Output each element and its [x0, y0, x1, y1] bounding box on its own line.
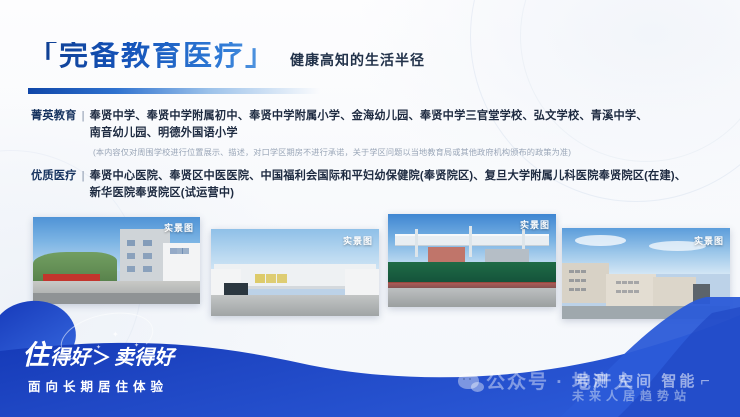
- slogan-arrow-icon: ＞: [92, 343, 111, 370]
- footer-sub-slogan: 面向长期居住体验: [28, 376, 168, 395]
- slogan-part-1: 住: [22, 342, 49, 369]
- photo-window: [170, 248, 177, 253]
- photo-item: 实景图: [388, 214, 556, 307]
- photo-truss: [395, 234, 550, 245]
- photo-tag: 实景图: [164, 221, 194, 234]
- photo-tag: 实景图: [694, 234, 724, 247]
- education-line: 菁英教育 | 奉贤中学、奉贤中学附属初中、奉贤中学附属小学、金海幼儿园、奉贤中学…: [31, 108, 716, 142]
- slide-root: 「完备教育医疗」 健康高知的生活半径 菁英教育 | 奉贤中学、奉贤中学附属初中、…: [0, 0, 740, 417]
- photo-tag: 实景图: [343, 234, 373, 247]
- photo-building: [163, 243, 200, 283]
- education-separator: |: [82, 108, 85, 125]
- title-divider: [28, 88, 320, 94]
- footer-band: ✦ ✦ ✦ 住 得好 ＞ 卖得好 面向长期居住体验 公众号 · 地产人 号测 空…: [0, 297, 740, 417]
- education-text: 奉贤中学、奉贤中学附属初中、奉贤中学附属小学、金海幼儿园、奉贤中学三官堂学校、弘…: [90, 108, 716, 142]
- photo-item: 实景图: [33, 217, 200, 304]
- photo-window: [127, 240, 135, 246]
- medical-text: 奉贤中心医院、奉贤区中医医院、中国福利会国际和平妇幼保健院(奉贤院区)、复旦大学…: [90, 168, 716, 202]
- medical-text-line1: 奉贤中心医院、奉贤区中医医院、中国福利会国际和平妇幼保健院(奉贤院区)、复旦大学…: [90, 170, 686, 182]
- slogan-part-3: 卖得好: [114, 341, 174, 370]
- medical-separator: |: [82, 168, 85, 185]
- photo-pole: [469, 226, 472, 257]
- sparkle-icon: ✦: [112, 330, 119, 339]
- photo-tag: 实景图: [520, 218, 550, 231]
- photo-window: [569, 270, 574, 274]
- education-text-line2: 南音幼儿园、明德外国语小学: [90, 125, 716, 142]
- photo-window: [616, 281, 621, 285]
- medical-label: 优质医疗: [31, 168, 77, 185]
- photo-fence: [388, 262, 556, 282]
- page-title-main: 「完备教育医疗」: [28, 42, 276, 71]
- photo-sign: [43, 274, 100, 282]
- medical-text-line2: 新华医院奉贤院区(试运营中): [90, 185, 716, 202]
- education-label: 菁英教育: [31, 108, 77, 125]
- photo-window: [255, 274, 265, 283]
- photo-pole: [415, 229, 418, 257]
- footer-slogan: 住 得好 ＞ 卖得好: [22, 341, 174, 370]
- education-block: 菁英教育 | 奉贤中学、奉贤中学附属初中、奉贤中学附属小学、金海幼儿园、奉贤中学…: [31, 108, 716, 159]
- slogan-part-2: 得好: [50, 341, 90, 370]
- photo-window: [143, 240, 151, 246]
- medical-block: 优质医疗 | 奉贤中心医院、奉贤区中医医院、中国福利会国际和平妇幼保健院(奉贤院…: [31, 168, 716, 202]
- education-text-line1: 奉贤中学、奉贤中学附属初中、奉贤中学附属小学、金海幼儿园、奉贤中学三官堂学校、弘…: [90, 110, 648, 122]
- page-title-subtitle: 健康高知的生活半径: [290, 50, 425, 70]
- education-disclaimer: (本内容仅对周围学校进行位置展示、描述，对口学区期房不进行承诺，关于学区问题以当…: [93, 147, 716, 159]
- medical-line: 优质医疗 | 奉贤中心医院、奉贤区中医医院、中国福利会国际和平妇幼保健院(奉贤院…: [31, 168, 716, 202]
- page-title: 「完备教育医疗」 健康高知的生活半径: [28, 42, 425, 71]
